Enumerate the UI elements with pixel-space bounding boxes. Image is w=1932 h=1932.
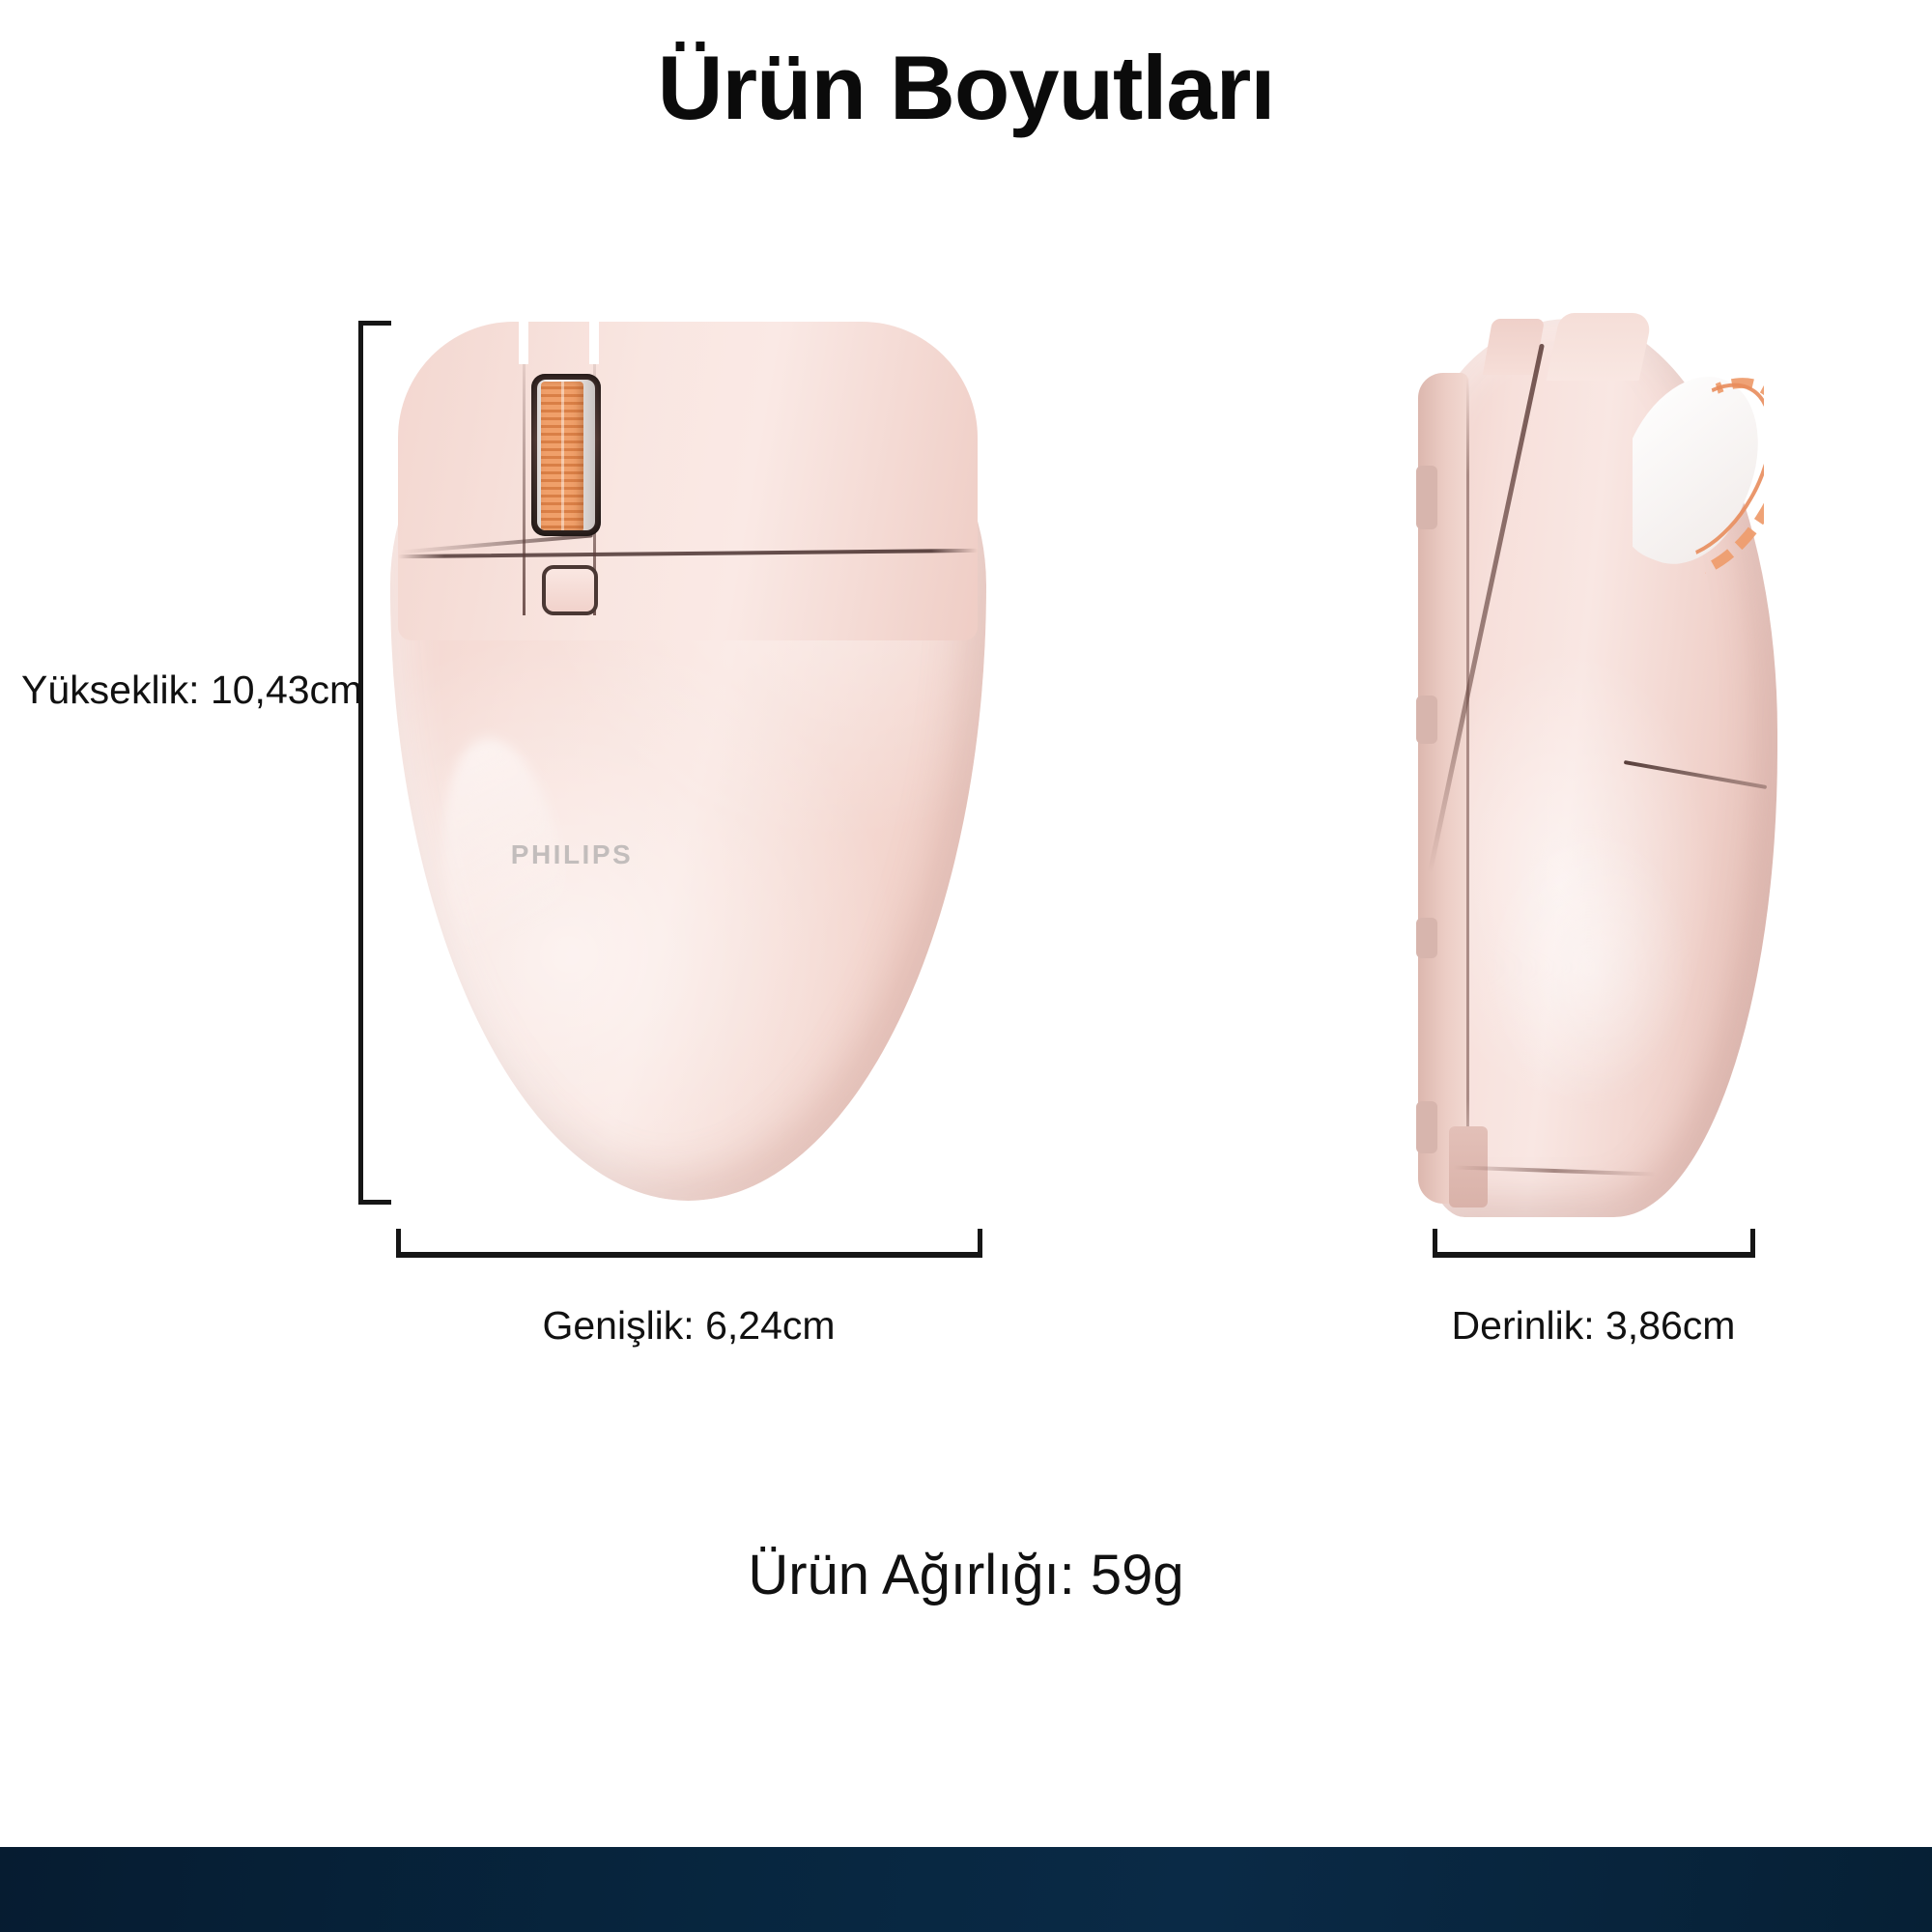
product-weight-label: Ürün Ağırlığı: 59g (0, 1541, 1932, 1610)
height-dimension-label: Yükseklik: 10,43cm (21, 667, 362, 713)
side-button-3 (1416, 918, 1437, 958)
mouse-top-view-image: PHILIPS (390, 322, 986, 1201)
dpi-button (542, 565, 598, 615)
page-title: Ürün Boyutları (0, 35, 1932, 141)
mouse-button-gap-left (519, 320, 528, 364)
side-button-2 (1416, 696, 1437, 744)
philips-brand-logo: PHILIPS (495, 839, 649, 870)
width-measurement-bracket (396, 1229, 982, 1258)
scroll-wheel-inner (537, 380, 595, 530)
depth-measurement-bracket (1433, 1229, 1755, 1258)
mouse-left-button-split (523, 326, 526, 615)
infographic-canvas: Ürün Boyutları Yükseklik: 10,43cm PHILIP… (0, 0, 1932, 1932)
width-dimension-label: Genişlik: 6,24cm (396, 1302, 981, 1349)
side-scroll-wheel-slot (1633, 369, 1764, 574)
mouse-side-edge-seam (1466, 377, 1469, 1198)
scroll-wheel-housing (531, 374, 601, 536)
scroll-wheel-ridges (541, 382, 583, 530)
mouse-side-view-image (1395, 319, 1777, 1217)
mouse-button-gap-right (589, 320, 599, 364)
depth-dimension-label: Derinlik: 3,86cm (1433, 1302, 1754, 1349)
footer-bar (0, 1847, 1932, 1932)
mouse-side-highlight (1488, 821, 1729, 1169)
side-button-4 (1416, 1101, 1437, 1153)
side-button-1 (1416, 466, 1437, 529)
mouse-top-shell (398, 322, 978, 640)
height-measurement-bracket (358, 321, 391, 1205)
